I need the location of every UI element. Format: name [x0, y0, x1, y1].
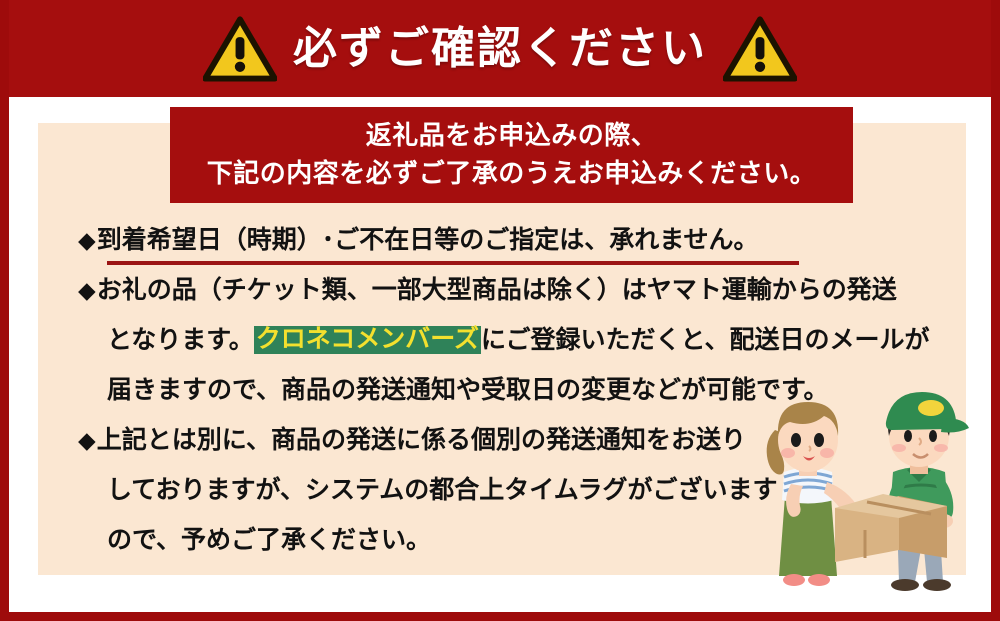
diamond-bullet-icon: ◆ — [78, 279, 96, 302]
diamond-bullet-icon: ◆ — [78, 429, 96, 452]
sub-banner-line-1: 返礼品をお申込みの際、 — [366, 117, 658, 155]
notice-item-2-text-1: お礼の品（チケット類、一部大型商品は除く）はヤマト運輸からの発送 — [97, 278, 897, 303]
notice-item-3-line-2: しておりますが、システムの都合上タイムラグがございます — [78, 465, 938, 515]
warning-triangle-icon — [723, 16, 797, 82]
kuroneko-members-highlight: クロネコメンバーズ — [254, 326, 481, 354]
notice-item-2-line-3: 届きますので、商品の発送通知や受取日の変更などが可能です。 — [78, 365, 938, 415]
page-title: 必ずご確認ください — [293, 27, 707, 71]
notice-item-3-line-1: ◆上記とは別に、商品の発送に係る個別の発送通知をお送り — [78, 415, 938, 465]
sub-banner-line-2: 下記の内容を必ずご了承のうえお申込みください。 — [207, 155, 817, 193]
notice-item-3-line-3: ので、予めご了承ください。 — [78, 515, 938, 565]
diamond-bullet-icon: ◆ — [78, 229, 96, 252]
notice-item-1-text: 到着希望日（時期）･ご不在日等のご指定は、承れません。 — [97, 228, 759, 253]
notice-card: 必ずご確認ください 返礼品をお申込みの際、 下記の内容を必ずご了承のうえお申込み… — [0, 0, 1000, 621]
warning-triangle-icon — [203, 16, 277, 82]
content-panel: 返礼品をお申込みの際、 下記の内容を必ずご了承のうえお申込みください。 ◆到着希… — [38, 123, 966, 575]
sub-banner: 返礼品をお申込みの際、 下記の内容を必ずご了承のうえお申込みください。 — [170, 107, 853, 203]
notice-item-1-line-1: ◆到着希望日（時期）･ご不在日等のご指定は、承れません。 — [78, 215, 938, 265]
notice-item-2-line-1: ◆お礼の品（チケット類、一部大型商品は除く）はヤマト運輸からの発送 — [78, 265, 938, 315]
notice-item-3-text-3: ので、予めご了承ください。 — [107, 528, 431, 553]
notice-item-3-text-1: 上記とは別に、商品の発送に係る個別の発送通知をお送り — [97, 428, 746, 453]
notice-item-3-text-2: しておりますが、システムの都合上タイムラグがございます — [107, 478, 778, 503]
notice-item-2-text-2: となります。 — [107, 328, 254, 353]
notice-item-2-text-3: 届きますので、商品の発送通知や受取日の変更などが可能です。 — [107, 378, 829, 403]
notice-list: ◆到着希望日（時期）･ご不在日等のご指定は、承れません。 ◆お礼の品（チケット類… — [78, 215, 938, 565]
header-band: 必ずご確認ください — [0, 0, 1000, 97]
notice-item-2-line-2: となります。クロネコメンバーズにご登録いただくと、配送日のメールが — [78, 315, 938, 365]
notice-item-2-text-2-after: にご登録いただくと、配送日のメールが — [481, 328, 930, 353]
